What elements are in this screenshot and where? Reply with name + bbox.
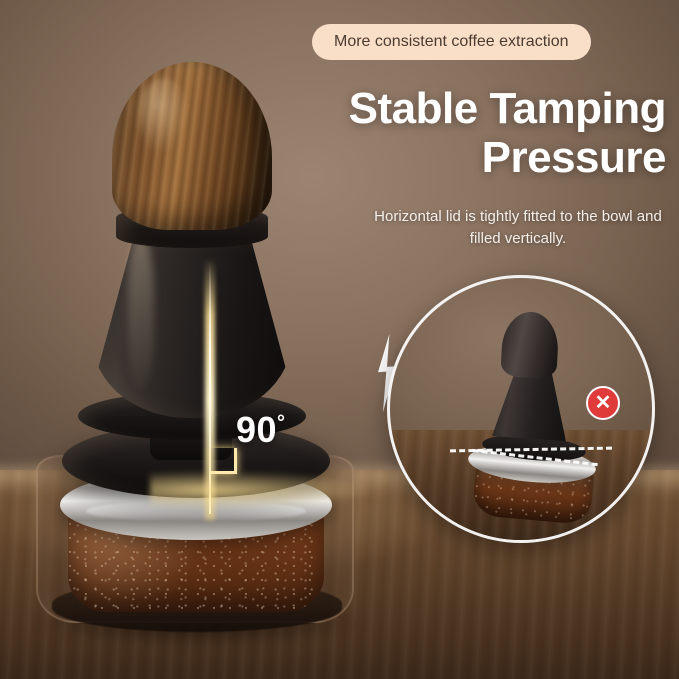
error-circle-icon: ✕ xyxy=(586,386,620,420)
inset-tamper-handle xyxy=(500,311,559,380)
feature-badge: More consistent coffee extraction xyxy=(312,24,591,60)
headline-line-2: Pressure xyxy=(482,133,666,182)
wooden-handle-knob xyxy=(112,62,272,230)
comparison-inset-circle: ✕ xyxy=(387,275,655,543)
product-promo-image: 90° VS ✕ More consistent coffee extracti… xyxy=(0,0,679,679)
feature-description: Horizontal lid is tightly fitted to the … xyxy=(370,206,666,250)
angle-unit: ° xyxy=(277,412,286,434)
angle-value: 90 xyxy=(236,409,277,450)
tamper-body xyxy=(92,228,292,418)
page-title: Stable Tamping Pressure xyxy=(290,84,666,183)
horizontal-light-flare xyxy=(150,470,380,510)
tamper-body-highlight xyxy=(128,238,154,388)
headline-line-1: Stable Tamping xyxy=(349,84,666,133)
angle-label: 90° xyxy=(236,409,286,451)
right-angle-marker-icon xyxy=(211,448,237,474)
